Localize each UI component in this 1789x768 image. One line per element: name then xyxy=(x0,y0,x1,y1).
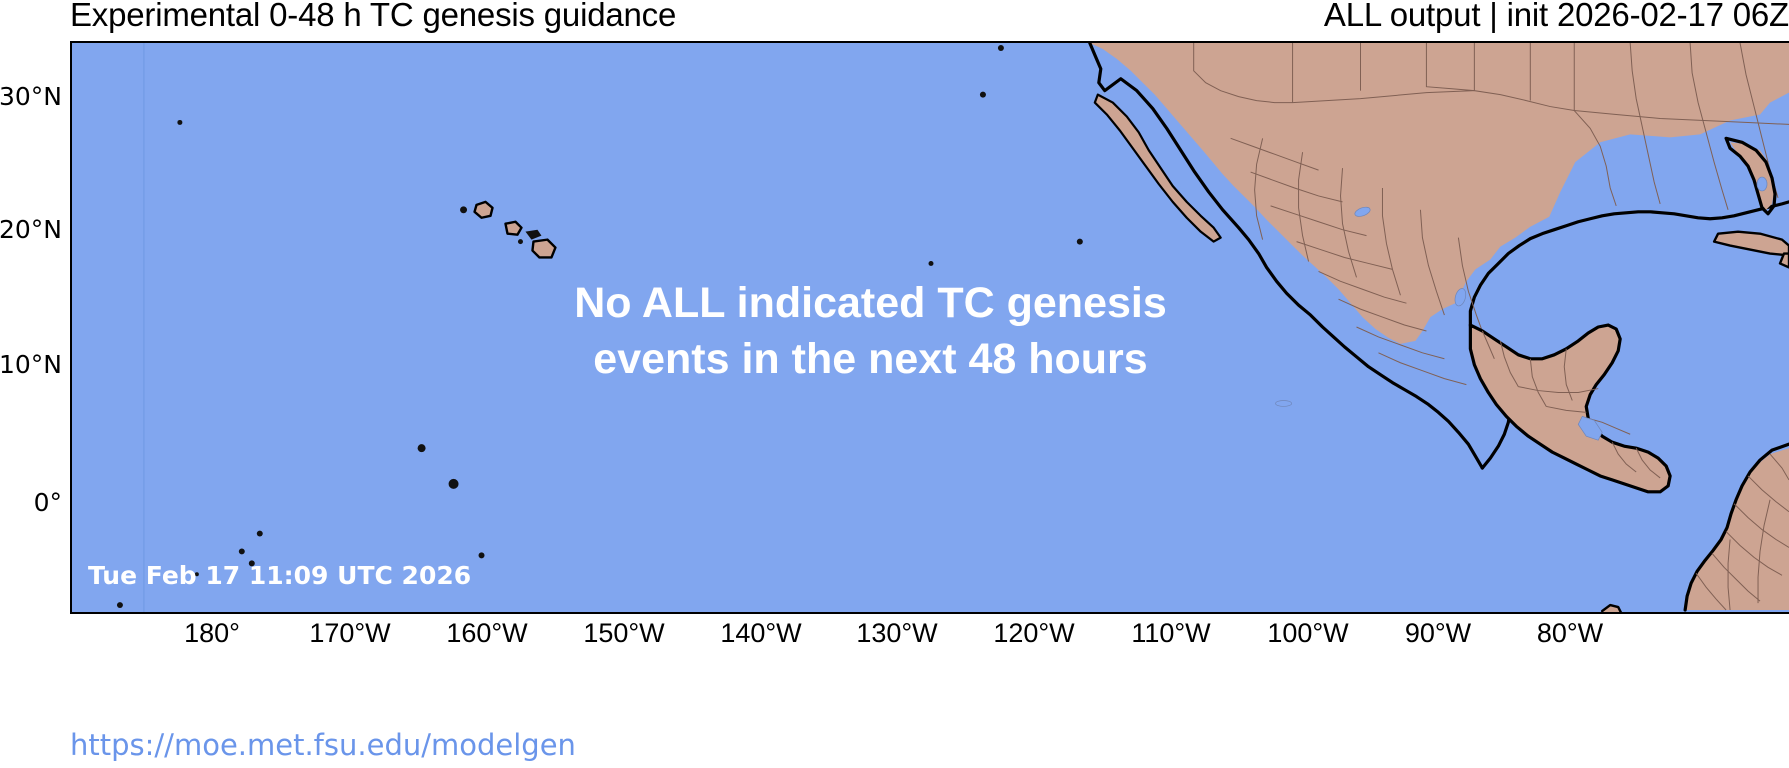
x-axis-tick-170w: 170°W xyxy=(309,618,390,649)
page-title: Experimental 0-48 h TC genesis guidance xyxy=(70,0,676,34)
timestamp-label: Tue Feb 17 11:09 UTC 2026 xyxy=(88,561,471,590)
x-axis-tick-140w: 140°W xyxy=(720,618,801,649)
x-axis-tick-120w: 120°W xyxy=(993,618,1074,649)
y-axis-tick-30n: 30°N xyxy=(0,82,62,111)
x-axis-tick-110w: 110°W xyxy=(1131,618,1210,649)
basemap-graphic: .land { fill: #cda492; stroke: #806054; … xyxy=(72,43,1789,612)
y-axis-tick-10n: 10°N xyxy=(0,350,62,379)
x-axis-tick-130w: 130°W xyxy=(856,618,937,649)
x-axis-tick-100w: 100°W xyxy=(1267,618,1348,649)
x-axis-tick-80w: 80°W xyxy=(1537,618,1603,649)
x-axis-tick-150w: 150°W xyxy=(583,618,664,649)
header: Experimental 0-48 h TC genesis guidance … xyxy=(0,0,1789,41)
header-run-info: ALL output | init 2026-02-17 06Z xyxy=(1324,0,1789,34)
source-url-link[interactable]: https://moe.met.fsu.edu/modelgen xyxy=(70,728,576,762)
y-axis-tick-0: 0° xyxy=(0,488,62,517)
page-root: Experimental 0-48 h TC genesis guidance … xyxy=(0,0,1789,768)
x-axis-tick-180: 180° xyxy=(184,618,240,649)
map-plot-frame[interactable]: .land { fill: #cda492; stroke: #806054; … xyxy=(70,41,1789,614)
y-axis-tick-20n: 20°N xyxy=(0,215,62,244)
x-axis-tick-160w: 160°W xyxy=(446,618,527,649)
x-axis-tick-90w: 90°W xyxy=(1405,618,1471,649)
